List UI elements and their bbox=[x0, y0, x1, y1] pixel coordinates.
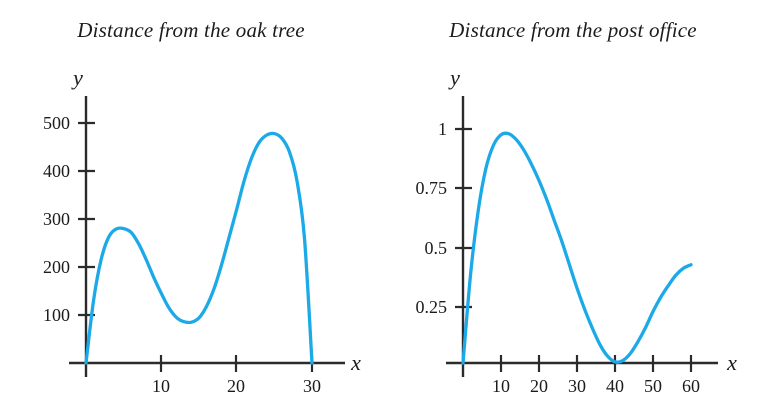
x-axis-label: x bbox=[350, 350, 361, 375]
y-tick-label-0.75: 0.75 bbox=[416, 178, 448, 198]
y-axis-label: y bbox=[448, 65, 460, 90]
x-tick-label-30: 30 bbox=[303, 376, 321, 396]
figure-container: Distance from the oak tree 100 200 300 4… bbox=[0, 0, 764, 409]
x-tick-label-60: 60 bbox=[682, 376, 700, 396]
y-tick-label-200: 200 bbox=[43, 257, 70, 277]
data-curve-oak-tree bbox=[86, 133, 312, 363]
y-tick-label-0.5: 0.5 bbox=[425, 238, 448, 258]
x-tick-label-10: 10 bbox=[492, 376, 510, 396]
data-curve-post-office bbox=[463, 133, 691, 363]
y-tick-label-1: 1 bbox=[438, 119, 447, 139]
x-tick-label-20: 20 bbox=[227, 376, 245, 396]
x-tick-label-30: 30 bbox=[568, 376, 586, 396]
chart-panel-post-office: Distance from the post office 0.25 0.5 0… bbox=[382, 0, 764, 409]
y-axis-label: y bbox=[71, 65, 83, 90]
plot-post-office: 0.25 0.5 0.75 1 10 20 30 40 50 60 y x bbox=[382, 0, 764, 409]
y-tick-label-500: 500 bbox=[43, 113, 70, 133]
x-tick-label-20: 20 bbox=[530, 376, 548, 396]
x-tick-label-10: 10 bbox=[152, 376, 170, 396]
plot-oak-tree: 100 200 300 400 500 10 20 30 y x bbox=[0, 0, 382, 409]
y-tick-label-100: 100 bbox=[43, 305, 70, 325]
chart-panel-oak-tree: Distance from the oak tree 100 200 300 4… bbox=[0, 0, 382, 409]
y-tick-label-400: 400 bbox=[43, 161, 70, 181]
x-tick-label-40: 40 bbox=[606, 376, 624, 396]
x-tick-label-50: 50 bbox=[644, 376, 662, 396]
x-axis-label: x bbox=[726, 350, 737, 375]
y-tick-label-0.25: 0.25 bbox=[416, 297, 448, 317]
y-tick-label-300: 300 bbox=[43, 209, 70, 229]
